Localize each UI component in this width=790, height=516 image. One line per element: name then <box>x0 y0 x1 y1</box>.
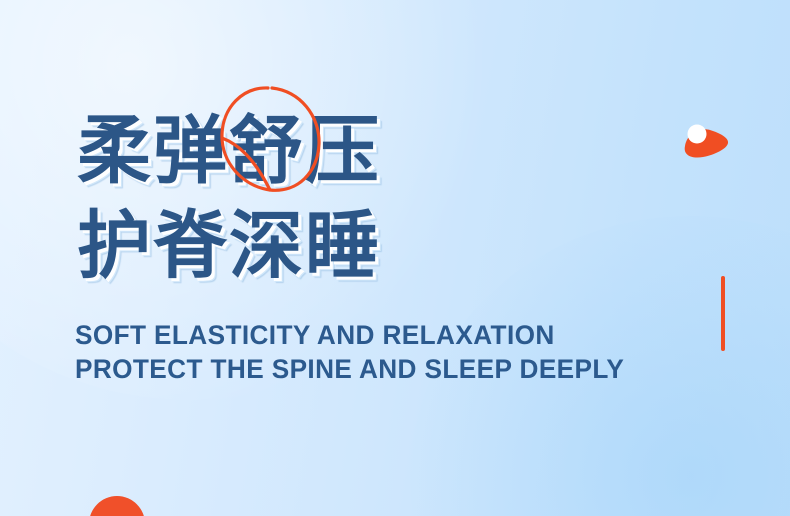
promo-banner: 柔弹舒压 护脊深睡 SOFT ELASTICITY AND RELAXATION… <box>0 0 790 516</box>
headline-line-2: 护脊深睡 <box>77 199 697 293</box>
headline-block: 柔弹舒压 护脊深睡 <box>77 104 697 293</box>
vertical-rule-decoration <box>721 276 725 351</box>
subheadline-line-1: SOFT ELASTICITY AND RELAXATION <box>75 320 715 350</box>
subheadline-line-2: PROTECT THE SPINE AND SLEEP DEEPLY <box>75 354 715 384</box>
subheadline-block: SOFT ELASTICITY AND RELAXATION PROTECT T… <box>75 320 735 384</box>
headline-line-1: 柔弹舒压 <box>77 104 697 198</box>
corner-circle-decoration <box>89 496 145 516</box>
leaf-blob-icon <box>678 122 730 160</box>
